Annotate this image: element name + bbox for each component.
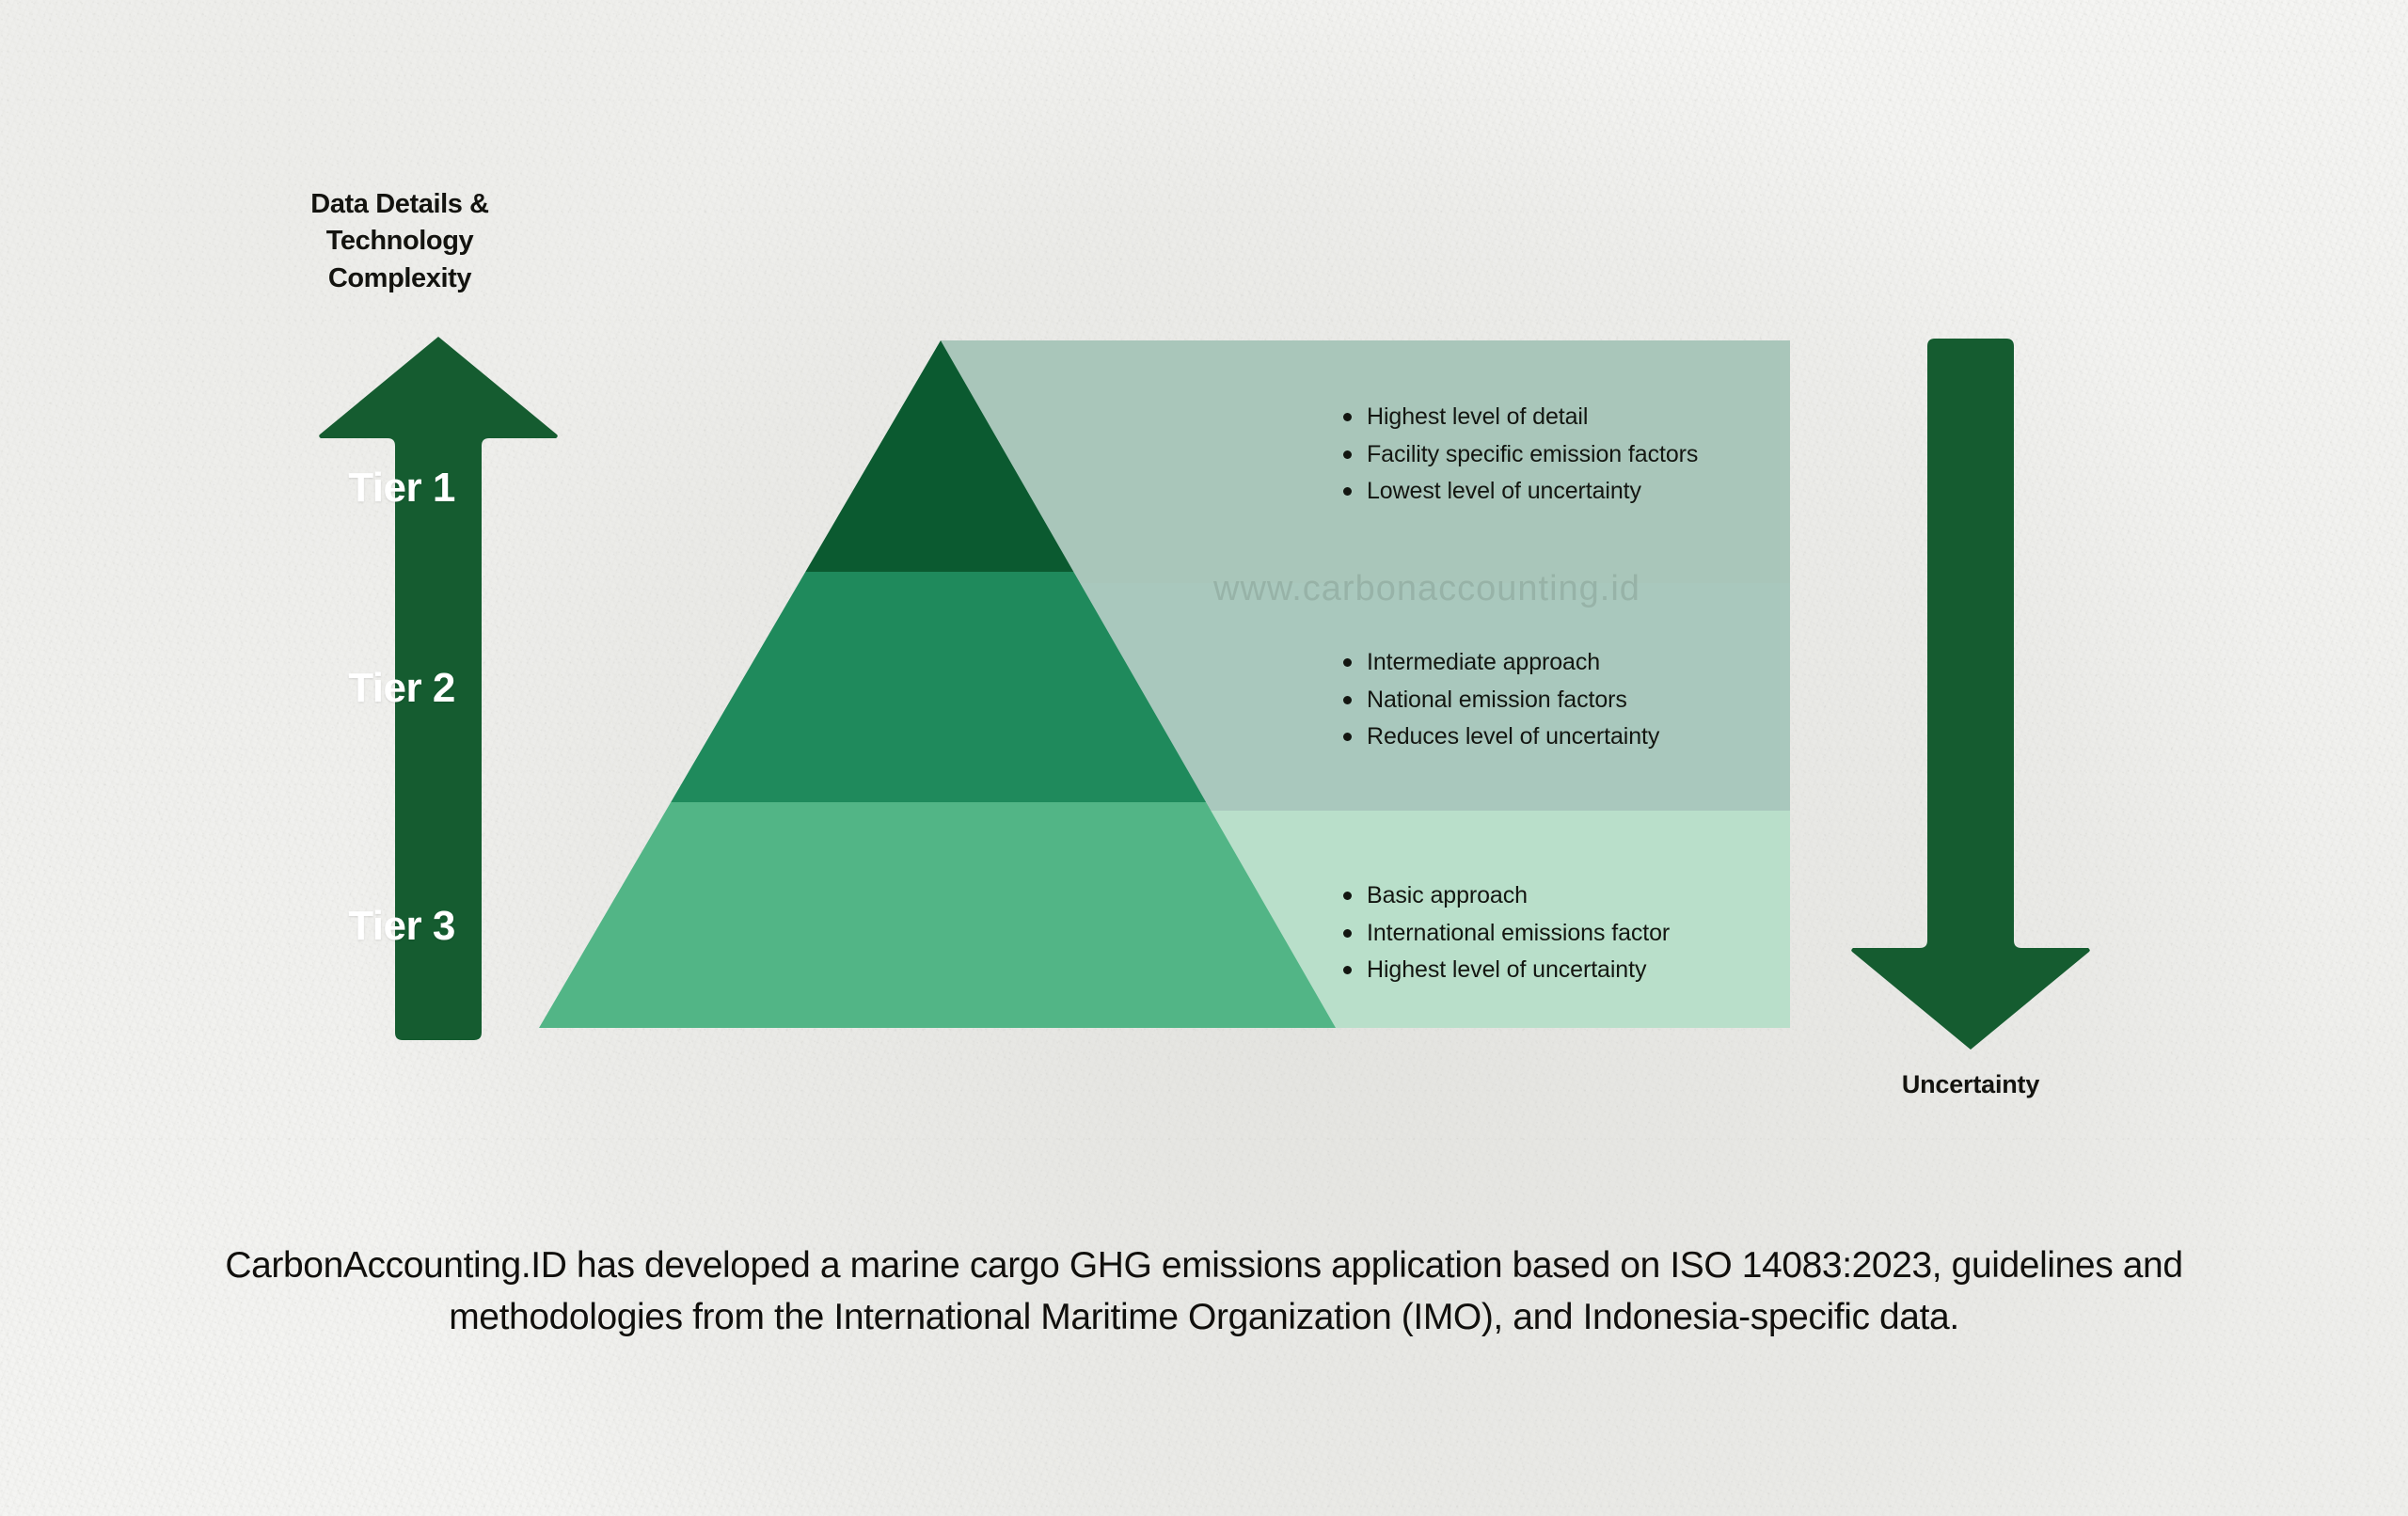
bullet-dot-icon (1343, 696, 1352, 704)
tier-label-3: Tier 3 (214, 903, 590, 950)
bullet-dot-icon (1343, 658, 1352, 667)
arrow-down-icon (1848, 337, 2093, 1051)
tier-label-2: Tier 2 (214, 665, 590, 712)
axis-label-uncertainty: Uncertainty (1848, 1070, 2093, 1099)
bullet-dot-icon (1343, 966, 1352, 974)
bullet-list-tier-1: Highest level of detail Facility specifi… (1343, 403, 1785, 514)
bullet-text: Basic approach (1367, 881, 1528, 910)
list-item: Reduces level of uncertainty (1343, 722, 1785, 751)
bullet-dot-icon (1343, 450, 1352, 459)
tier-pyramid-svg (539, 340, 1336, 1028)
bullet-dot-icon (1343, 733, 1352, 741)
bullet-list-tier-3: Basic approach International emissions f… (1343, 881, 1785, 993)
list-item: Basic approach (1343, 881, 1785, 910)
bullet-dot-icon (1343, 413, 1352, 421)
list-item: Lowest level of uncertainty (1343, 477, 1785, 506)
list-item: National emission factors (1343, 686, 1785, 715)
list-item: Highest level of detail (1343, 403, 1785, 432)
arrow-down-shape (1851, 339, 2090, 1050)
bullet-list-tier-2: Intermediate approach National emission … (1343, 648, 1785, 760)
tier-pyramid (539, 340, 1336, 1028)
list-item: Facility specific emission factors (1343, 440, 1785, 469)
axis-label-data-details-technology-complexity: Data Details & Technology Complexity (282, 186, 517, 297)
caption-text: CarbonAccounting.ID has developed a mari… (169, 1240, 2239, 1344)
bullet-text: National emission factors (1367, 686, 1627, 715)
pyramid-band-tier-3 (539, 802, 1336, 1028)
arrow-down-svg (1848, 337, 2093, 1051)
bullet-dot-icon (1343, 929, 1352, 938)
bullet-text: International emissions factor (1367, 919, 1670, 948)
bullet-text: Lowest level of uncertainty (1367, 477, 1641, 506)
bullet-dot-icon (1343, 487, 1352, 496)
bullet-text: Highest level of detail (1367, 403, 1588, 432)
bullet-text: Highest level of uncertainty (1367, 955, 1646, 985)
bullet-dot-icon (1343, 892, 1352, 900)
bullet-text: Reduces level of uncertainty (1367, 722, 1659, 751)
bullet-text: Intermediate approach (1367, 648, 1600, 677)
pyramid-band-tier-1 (539, 340, 1336, 572)
tier-label-1: Tier 1 (214, 465, 590, 512)
list-item: Intermediate approach (1343, 648, 1785, 677)
list-item: Highest level of uncertainty (1343, 955, 1785, 985)
bullet-text: Facility specific emission factors (1367, 440, 1698, 469)
pyramid-band-tier-2 (539, 572, 1336, 802)
list-item: International emissions factor (1343, 919, 1785, 948)
